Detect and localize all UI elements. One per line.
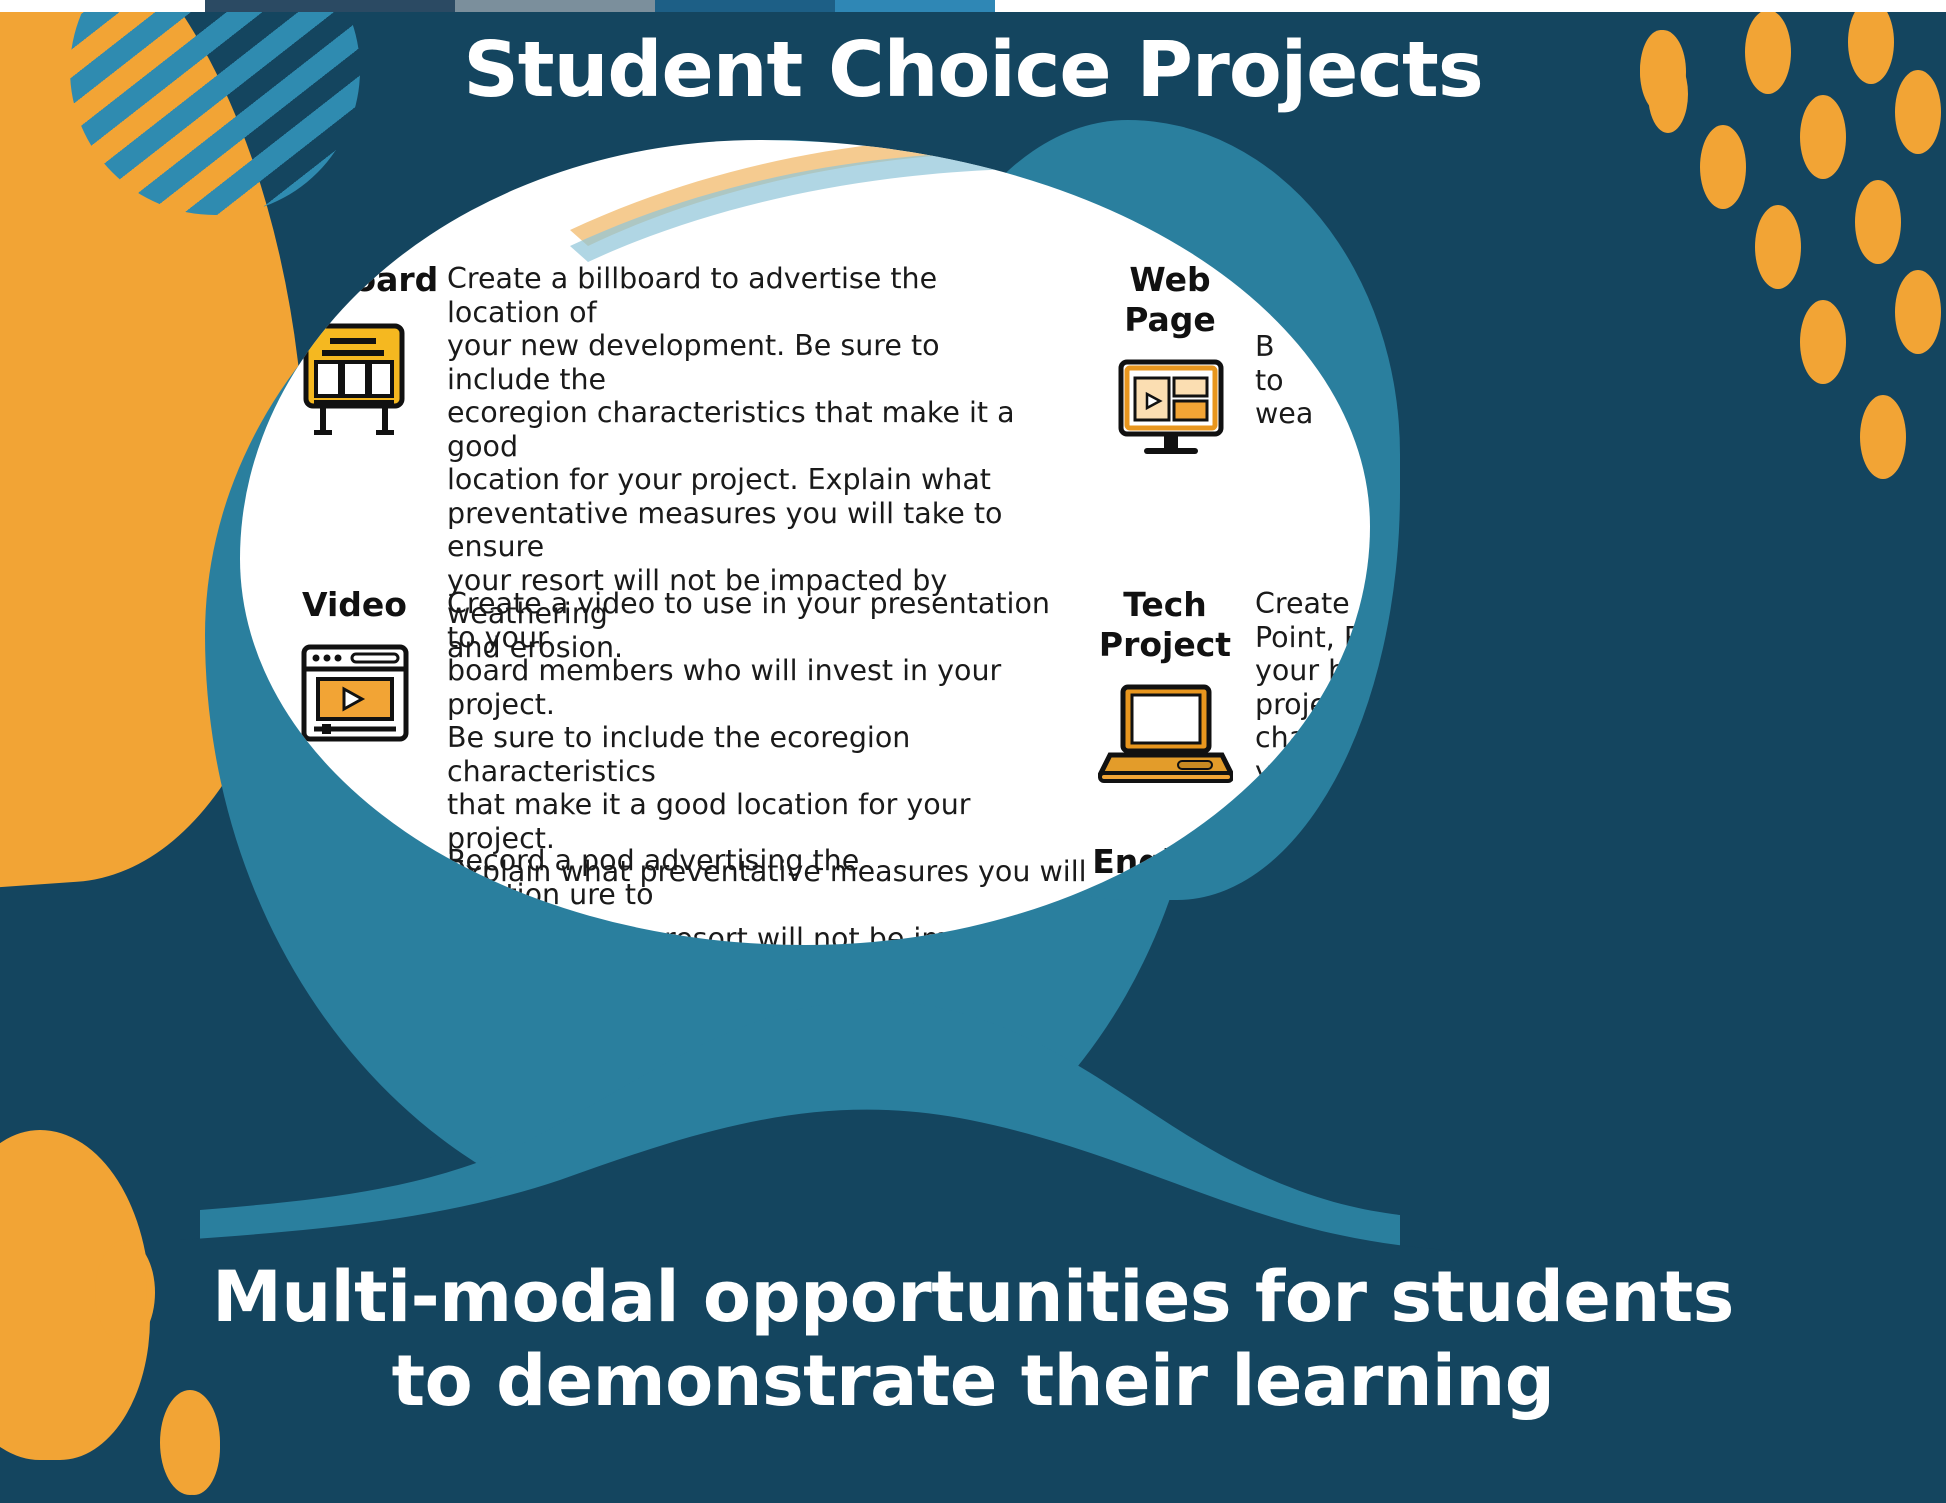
project-label-web-page: Web Page — [1085, 258, 1255, 477]
page-title: Student Choice Projects — [0, 26, 1946, 115]
chrome-segment-a — [205, 0, 455, 12]
orange-dot-decoration — [1700, 125, 1746, 209]
project-title: Video — [262, 585, 447, 625]
project-title: Billboard — [262, 260, 447, 300]
chrome-segment-c — [655, 0, 835, 12]
orange-dot-decoration — [1800, 300, 1846, 384]
project-title: Podcast — [262, 842, 447, 882]
caption-line-2: to demonstrate their learning — [0, 1339, 1946, 1423]
project-row-web-page: Web Page B to wea — [1085, 258, 1370, 477]
chrome-segment-d — [835, 0, 995, 12]
page-caption: Multi-modal opportunities for students t… — [0, 1255, 1946, 1423]
project-title: Web Page — [1085, 260, 1255, 340]
project-label-tech-project: Tech Project — [1075, 583, 1255, 794]
project-label-podcast: Podcast — [262, 840, 447, 945]
orange-dot-decoration — [1895, 270, 1941, 354]
project-description-tech-project: Create a Point, P your bo projec chara y… — [1255, 583, 1370, 855]
project-description-web-page: B to wea — [1255, 258, 1370, 431]
chrome-segment-b — [455, 0, 655, 12]
project-row-tech-project: Tech Project Create a Point, P your bo p… — [1075, 583, 1370, 855]
microphone-icon — [262, 896, 447, 945]
project-title: Tech Project — [1075, 585, 1255, 665]
project-row-podcast: Podcast Record a pod advertising the loc… — [262, 840, 1062, 945]
caption-line-1: Multi-modal opportunities for students — [212, 1256, 1734, 1338]
project-description-engineering — [1275, 840, 1370, 844]
project-title: Engineer ing — [1075, 842, 1275, 922]
orange-dot-decoration — [1855, 180, 1901, 264]
project-label-billboard: Billboard — [262, 258, 447, 444]
orange-dot-decoration — [1755, 205, 1801, 289]
project-label-video: Video — [262, 583, 447, 762]
video-player-icon — [262, 639, 447, 762]
project-options-card: Billboard — [240, 140, 1370, 945]
window-chrome-strip — [0, 0, 1946, 12]
web-page-icon — [1085, 354, 1255, 477]
card-swoosh-decoration — [570, 140, 1130, 264]
billboard-icon — [262, 314, 447, 444]
orange-dot-decoration — [1860, 395, 1906, 479]
laptop-icon — [1075, 679, 1255, 794]
project-row-engineering: Engineer ing — [1075, 840, 1370, 922]
project-description-podcast: Record a pod advertising the location ur… — [447, 840, 1047, 945]
project-label-engineering: Engineer ing — [1075, 840, 1275, 922]
